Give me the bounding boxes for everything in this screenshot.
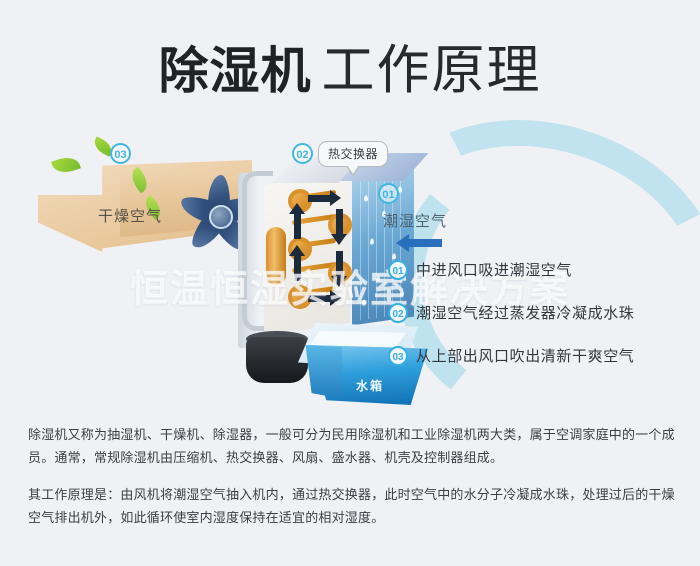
airflow-right-arrow-icon: [308, 295, 330, 302]
step-badge-03: 03: [388, 346, 408, 366]
paragraph-1: 除湿机又称为抽湿机、干燥机、除湿器，一般可分为民用除湿机和工业除湿机两大类，属于…: [28, 423, 676, 469]
paragraph-2: 其工作原理是：由风机将潮湿空气抽入机内，通过热交换器，此时空气中的水分子冷凝成水…: [28, 483, 676, 529]
leaf-icon: [51, 153, 81, 177]
airflow-down-arrow-icon: [336, 209, 343, 235]
list-item: 02 潮湿空气经过蒸发器冷凝成水珠: [388, 291, 688, 334]
page-title-light: 工作原理: [322, 40, 542, 101]
step-text-01: 中进风口吸进潮湿空气: [416, 259, 572, 280]
page-title: 除湿机工作原理: [0, 28, 700, 104]
heat-exchanger-callout: 热交换器: [318, 141, 388, 167]
step-badge-01: 01: [388, 260, 408, 280]
humid-air-label: 潮湿空气: [383, 210, 447, 231]
dry-air-label: 干燥空气: [98, 205, 162, 226]
body-copy: 除湿机又称为抽湿机、干燥机、除湿器，一般可分为民用除湿机和工业除湿机两大类，属于…: [28, 423, 676, 529]
step-text-02: 潮湿空气经过蒸发器冷凝成水珠: [416, 302, 634, 323]
air-inlet-arrow-icon: [408, 239, 442, 247]
water-tank-face: [304, 345, 342, 401]
airflow-up-arrow-icon: [294, 213, 301, 239]
airflow-down-arrow-icon: [336, 251, 343, 277]
diagram-badge-02: 02: [292, 143, 313, 164]
diagram-badge-03: 03: [110, 143, 131, 164]
infographic-page: 除湿机工作原理: [0, 0, 700, 566]
list-item: 03 从上部出风口吹出清新干爽空气: [388, 334, 688, 377]
page-title-bold: 除湿机: [159, 42, 312, 100]
receiver-cylinder-icon: [266, 227, 286, 285]
water-tank-label: 水箱: [356, 377, 384, 394]
list-item: 01 中进风口吸进潮湿空气: [388, 248, 688, 291]
steps-list: 01 中进风口吸进潮湿空气 02 潮湿空气经过蒸发器冷凝成水珠 03 从上部出风…: [388, 248, 688, 377]
compressor-icon: [246, 337, 308, 383]
step-badge-02: 02: [388, 303, 408, 323]
step-text-03: 从上部出风口吹出清新干爽空气: [416, 345, 634, 366]
diagram-badge-01: 01: [378, 183, 399, 204]
airflow-up-arrow-icon: [294, 255, 301, 281]
airflow-right-arrow-icon: [308, 195, 330, 202]
